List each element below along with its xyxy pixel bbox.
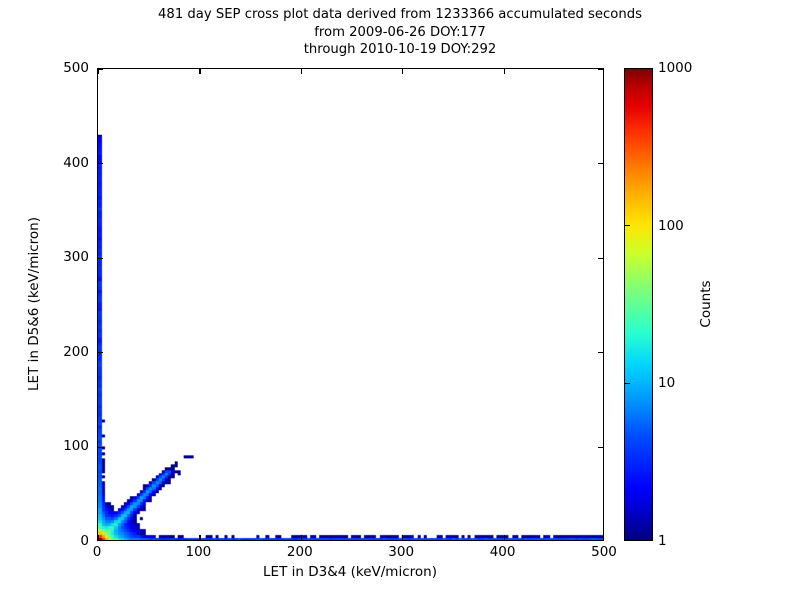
y-tick-label-100: 100 <box>0 438 89 454</box>
y-tick-label-400: 400 <box>0 155 89 171</box>
figure-canvas: 481 day SEP cross plot data derived from… <box>0 0 800 600</box>
colorbar-label-10: 10 <box>658 375 675 391</box>
y-tick-200 <box>598 352 603 353</box>
y-tick-300 <box>598 258 603 259</box>
x-tick-label-100: 100 <box>186 544 212 560</box>
x-tick-200 <box>301 69 302 74</box>
colorbar-title: Counts <box>698 280 714 327</box>
y-tick-label-500: 500 <box>0 60 89 76</box>
y-tick-300 <box>98 258 103 259</box>
x-axis-title: LET in D3&4 (keV/micron) <box>263 564 437 580</box>
x-tick-label-400: 400 <box>490 544 516 560</box>
y-tick-100 <box>598 447 603 448</box>
x-tick-200 <box>301 535 302 540</box>
x-tick-100 <box>199 535 200 540</box>
chart-title: 481 day SEP cross plot data derived from… <box>0 6 800 59</box>
chart-title-line-3: through 2010-10-19 DOY:292 <box>0 41 800 59</box>
x-tick-0 <box>98 535 99 540</box>
x-tick-label-200: 200 <box>287 544 313 560</box>
x-tick-400 <box>504 535 505 540</box>
x-tick-label-500: 500 <box>591 544 617 560</box>
y-tick-label-200: 200 <box>0 344 89 360</box>
x-tick-100 <box>199 69 200 74</box>
y-tick-100 <box>98 447 103 448</box>
colorbar-tick-10 <box>624 383 630 384</box>
colorbar-label-1000: 1000 <box>658 60 692 76</box>
x-tick-300 <box>402 535 403 540</box>
y-tick-500 <box>598 69 603 70</box>
y-tick-label-0: 0 <box>0 533 89 549</box>
colorbar-label-100: 100 <box>658 218 684 234</box>
chart-title-line-2: from 2009-06-26 DOY:177 <box>0 24 800 42</box>
x-tick-300 <box>402 69 403 74</box>
chart-title-line-1: 481 day SEP cross plot data derived from… <box>0 6 800 24</box>
y-tick-200 <box>98 352 103 353</box>
y-tick-400 <box>598 163 603 164</box>
plot-area[interactable] <box>97 68 604 541</box>
y-tick-400 <box>98 163 103 164</box>
colorbar-label-1: 1 <box>658 533 667 549</box>
x-tick-label-300: 300 <box>388 544 414 560</box>
colorbar-tick-100 <box>624 225 630 226</box>
colorbar[interactable] <box>624 68 653 541</box>
y-axis-title: LET in D5&6 (keV/micron) <box>26 217 42 391</box>
y-tick-label-300: 300 <box>0 249 89 265</box>
y-tick-500 <box>98 69 103 70</box>
x-tick-400 <box>504 69 505 74</box>
x-tick-label-0: 0 <box>93 544 102 560</box>
scatter-density-heatmap <box>98 69 603 540</box>
